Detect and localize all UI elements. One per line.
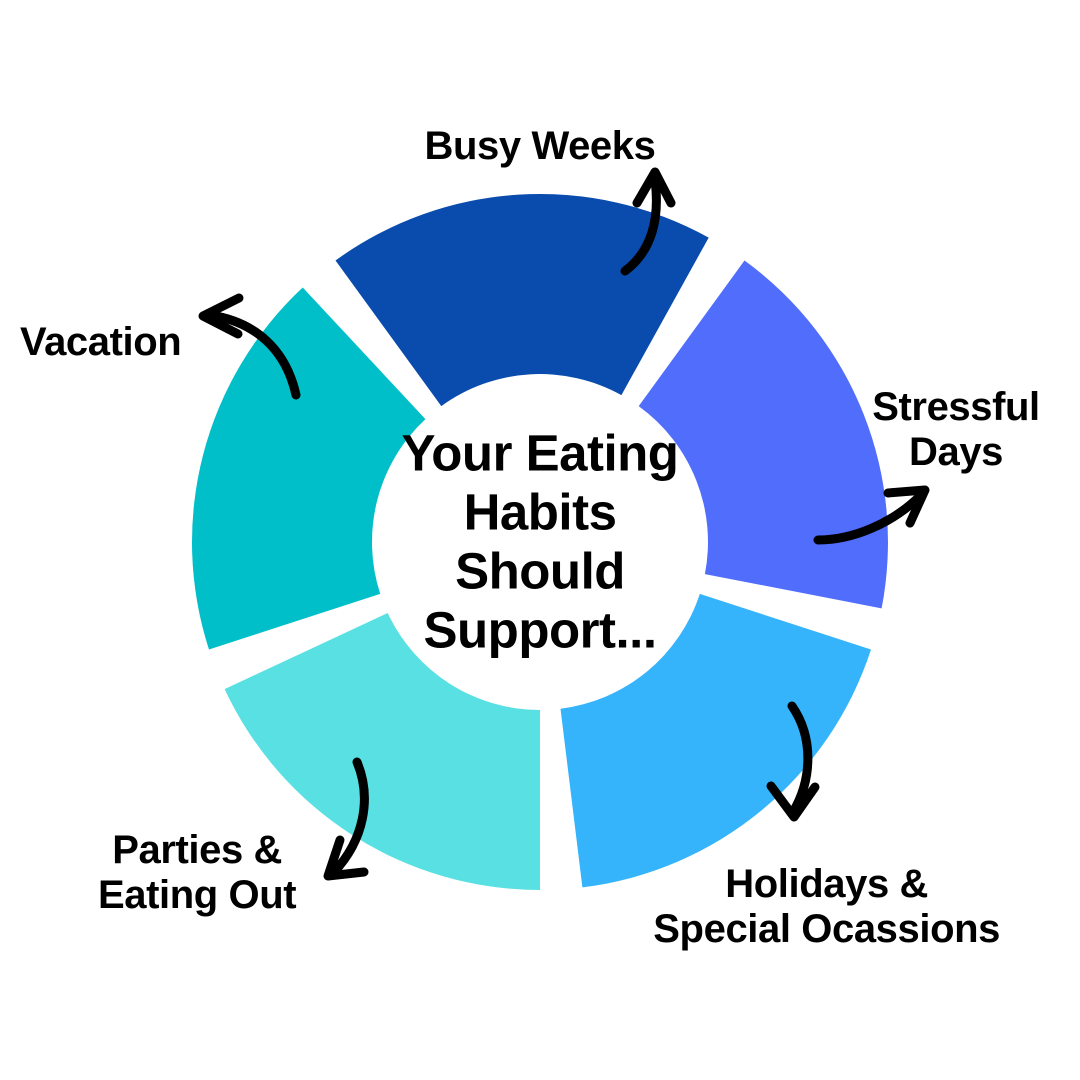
label-stressful-days: Stressful Days bbox=[872, 385, 1040, 475]
label-parties-line-2: Eating Out bbox=[98, 873, 296, 918]
segment-stressful-days[interactable] bbox=[639, 261, 888, 609]
donut-segments bbox=[192, 194, 888, 890]
label-busy-weeks: Busy Weeks bbox=[425, 124, 656, 169]
segment-holidays-special-ocassions[interactable] bbox=[561, 594, 872, 888]
infographic-canvas: Your Eating Habits Should Support... Bus… bbox=[0, 0, 1080, 1080]
label-holidays-line-2: Special Ocassions bbox=[653, 907, 1000, 952]
label-holidays-special-ocassions: Holidays & Special Ocassions bbox=[653, 862, 1000, 952]
label-stressful-days-line-1: Stressful bbox=[872, 385, 1040, 430]
label-stressful-days-line-2: Days bbox=[872, 430, 1040, 475]
label-parties-eating-out: Parties & Eating Out bbox=[98, 828, 296, 918]
label-vacation: Vacation bbox=[20, 320, 181, 365]
label-vacation-line-1: Vacation bbox=[20, 320, 181, 365]
label-holidays-line-1: Holidays & bbox=[653, 862, 1000, 907]
segment-vacation[interactable] bbox=[192, 288, 425, 650]
label-parties-line-1: Parties & bbox=[98, 828, 296, 873]
label-busy-weeks-line-1: Busy Weeks bbox=[425, 124, 656, 169]
